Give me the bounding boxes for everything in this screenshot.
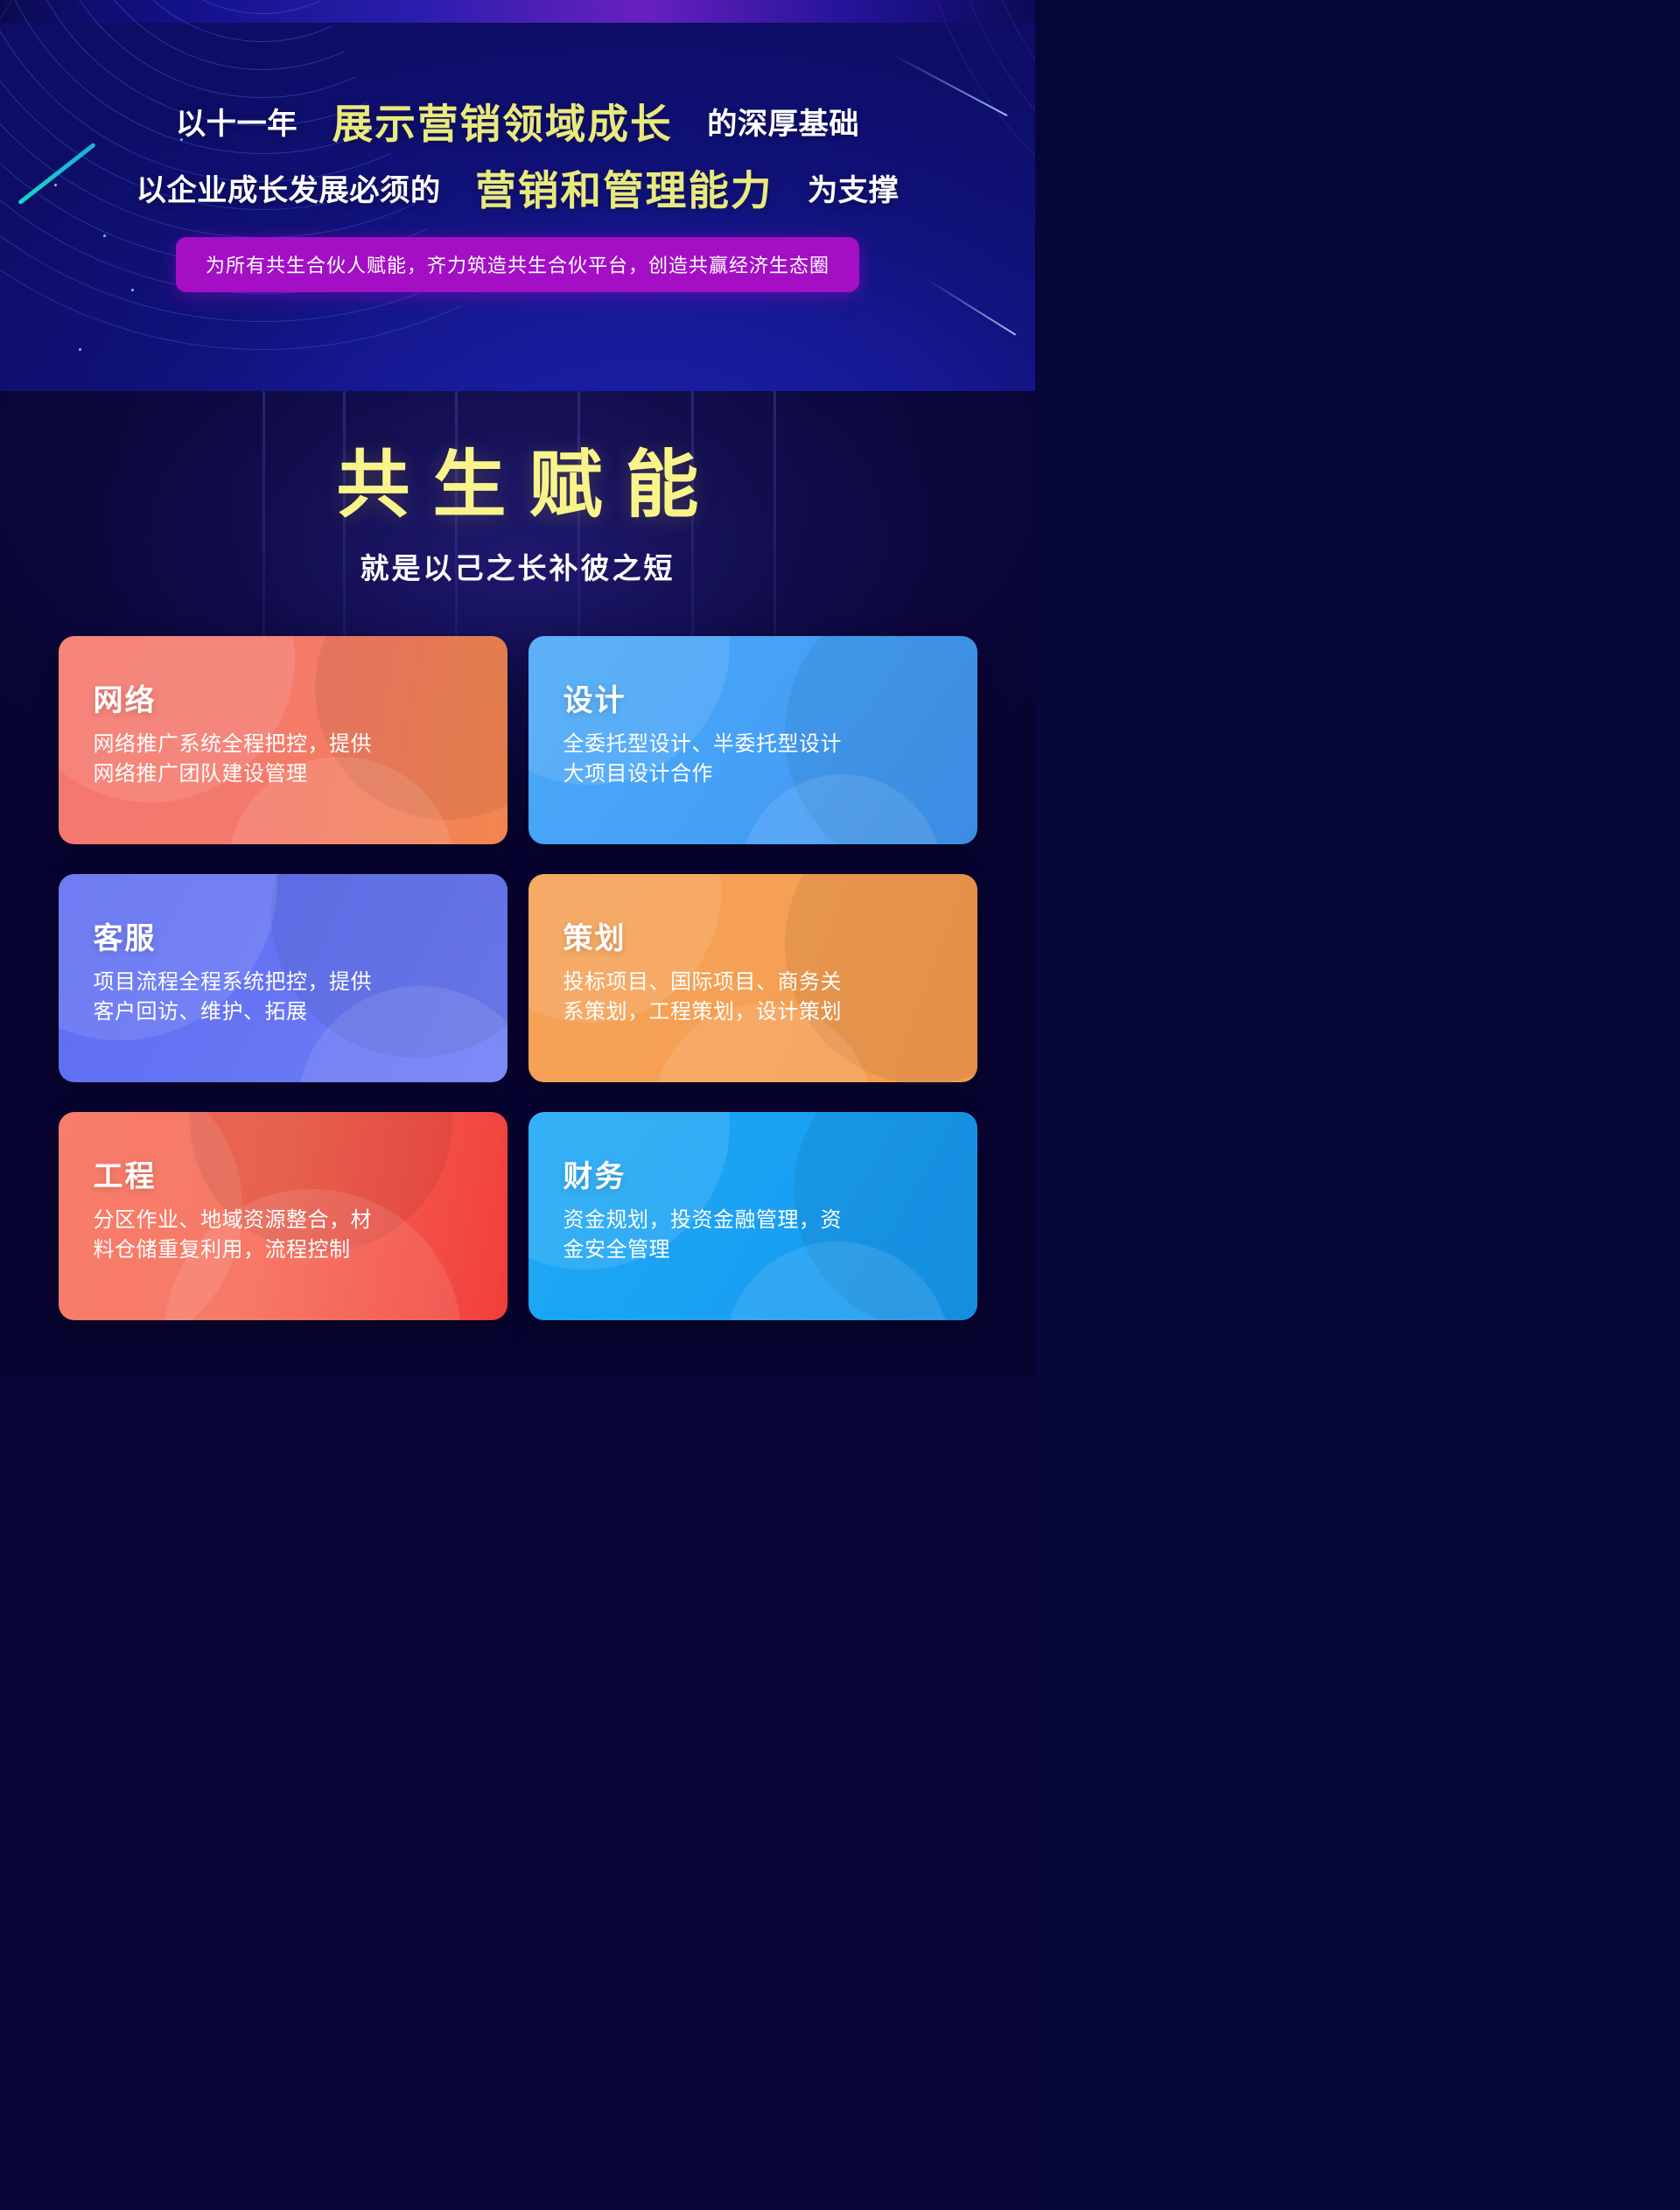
card-planning-title: 策划 — [563, 914, 942, 957]
card-service[interactable]: 客服 项目流程全程系统把控，提供 客户回访、维护、拓展 — [59, 874, 507, 1082]
card-planning[interactable]: 策划 投标项目、国际项目、商务关 系策划，工程策划，设计策划 — [528, 874, 977, 1082]
promo-poster: 以十一年 展示营销领域成长 的深厚基础 以企业成长发展必须的 营销和管理能力 为… — [0, 0, 1035, 2210]
hero-headline-2-lead: 以企业成长发展必须的 — [136, 174, 441, 207]
card-service-desc: 项目流程全程系统把控，提供 客户回访、维护、拓展 — [94, 968, 472, 1027]
card-network[interactable]: 网络 网络推广系统全程把控，提供 网络推广团队建设管理 — [59, 636, 507, 844]
hero-headline-1-highlight: 展示营销领域成长 — [332, 101, 673, 147]
hero-tagline-pill: 为所有共生合伙人赋能，齐力筑造共生合伙平台，创造共赢经济生态圈 — [176, 237, 859, 292]
spark-dot — [79, 348, 81, 351]
hero-headline-2-tail: 为支撑 — [808, 174, 899, 207]
blob-decoration — [271, 874, 507, 1058]
blob-decoration — [315, 636, 507, 820]
hero-headline-2: 以企业成长发展必须的 营销和管理能力 为支撑 — [0, 170, 1035, 212]
card-network-desc: 网络推广系统全程把控，提供 网络推广团队建设管理 — [94, 730, 472, 789]
card-finance[interactable]: 财务 资金规划，投资金融管理，资 金安全管理 — [528, 1112, 977, 1320]
card-design-title: 设计 — [563, 676, 942, 719]
card-finance-title: 财务 — [563, 1152, 942, 1195]
card-engineering-desc: 分区作业、地域资源整合，材 料仓储重复利用，流程控制 — [94, 1206, 472, 1265]
card-design[interactable]: 设计 全委托型设计、半委托型设计 大项目设计合作 — [528, 636, 977, 844]
capability-card-grid: 网络 网络推广系统全程把控，提供 网络推广团队建设管理 设计 全委托型设计、半委… — [59, 636, 977, 1320]
hero-headline-1: 以十一年 展示营销领域成长 的深厚基础 — [0, 103, 1035, 145]
card-service-title: 客服 — [94, 914, 472, 957]
card-engineering-title: 工程 — [94, 1152, 472, 1195]
hero-headline-2-highlight: 营销和管理能力 — [475, 168, 773, 213]
hero-headline-1-lead: 以十一年 — [176, 108, 297, 141]
brand-subtitle: 就是以己之长补彼之短 — [0, 545, 1035, 587]
card-network-title: 网络 — [94, 676, 472, 719]
card-engineering[interactable]: 工程 分区作业、地域资源整合，材 料仓储重复利用，流程控制 — [59, 1112, 507, 1320]
card-design-desc: 全委托型设计、半委托型设计 大项目设计合作 — [563, 730, 942, 789]
hero-banner: 以十一年 展示营销领域成长 的深厚基础 以企业成长发展必须的 营销和管理能力 为… — [0, 0, 1035, 391]
main-section: 共生赋能 就是以己之长补彼之短 网络 网络推广系统全程把控，提供 网络推广团队建… — [0, 391, 1035, 1381]
card-planning-desc: 投标项目、国际项目、商务关 系策划，工程策划，设计策划 — [563, 968, 942, 1027]
brand-title: 共生赋能 — [0, 444, 1035, 526]
card-finance-desc: 资金规划，投资金融管理，资 金安全管理 — [563, 1206, 942, 1265]
hero-headline-1-tail: 的深厚基础 — [707, 108, 859, 141]
